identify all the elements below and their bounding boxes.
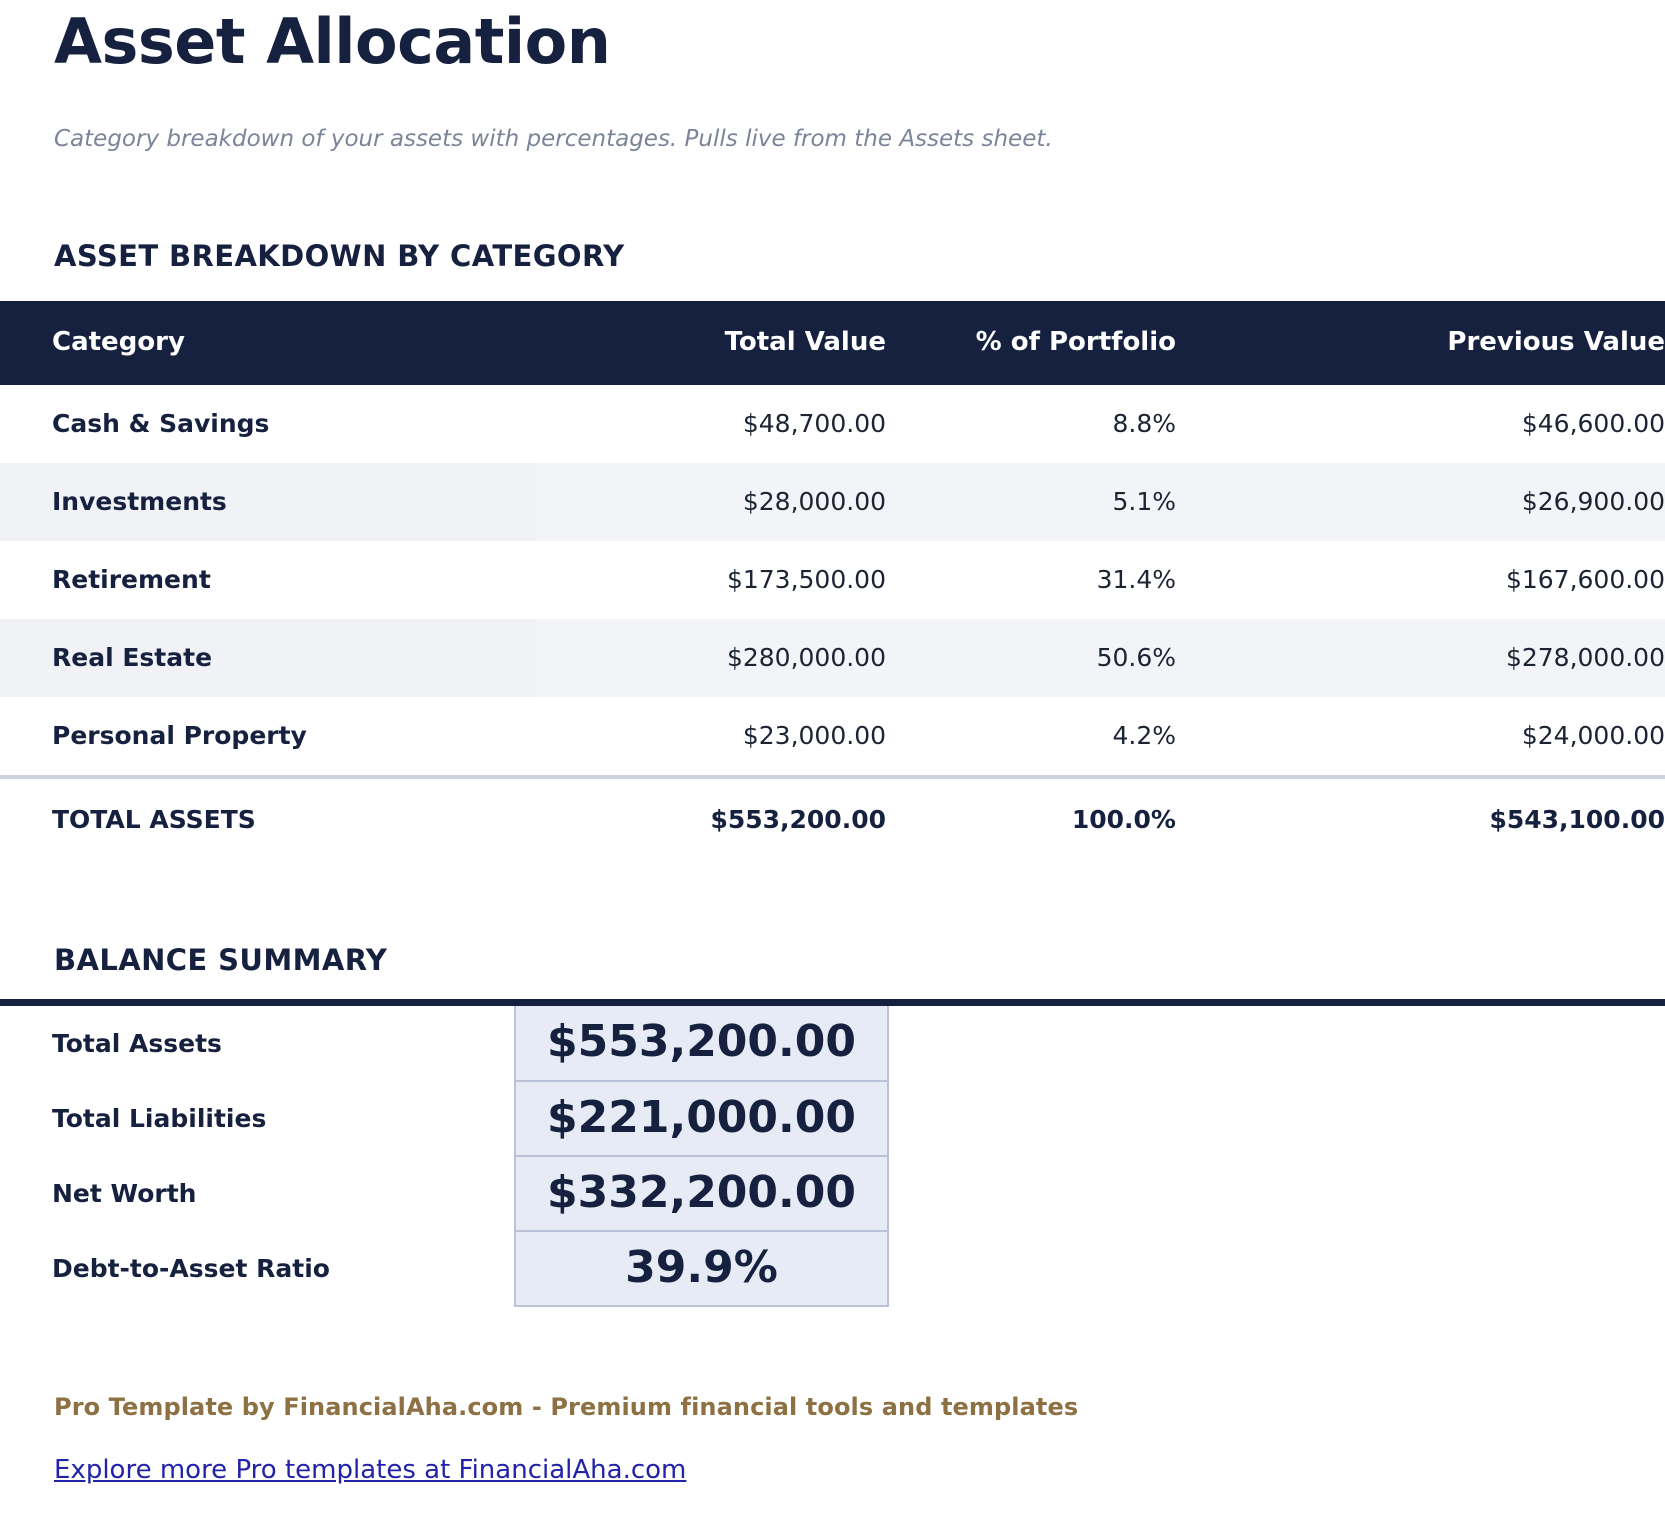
cell-pct-portfolio: 5.1%: [920, 463, 1210, 541]
summary-label-total-assets: Total Assets: [0, 1006, 515, 1081]
table-total-row: TOTAL ASSETS $553,200.00 100.0% $543,100…: [0, 777, 1665, 859]
summary-row: Total Liabilities $221,000.00: [0, 1081, 1665, 1156]
asset-breakdown-section-heading: ASSET BREAKDOWN BY CATEGORY: [54, 239, 1647, 273]
balance-summary-table: Total Assets $553,200.00 Total Liabiliti…: [0, 999, 1665, 1307]
column-header-total-value: Total Value: [535, 301, 920, 385]
summary-top-rule: [0, 999, 1665, 1006]
cell-previous-value: $278,000.00: [1210, 619, 1665, 697]
table-row: Real Estate $280,000.00 50.6% $278,000.0…: [0, 619, 1665, 697]
summary-rule-segment: [515, 999, 888, 1006]
summary-spacer: [888, 1081, 1665, 1156]
cell-total-pct-portfolio: 100.0%: [920, 777, 1210, 859]
footer-promo-text: Pro Template by FinancialAha.com - Premi…: [54, 1393, 1647, 1421]
summary-value-total-assets: $553,200.00: [515, 1006, 888, 1081]
summary-row: Net Worth $332,200.00: [0, 1156, 1665, 1231]
summary-rule-segment: [888, 999, 1665, 1006]
table-row: Personal Property $23,000.00 4.2% $24,00…: [0, 697, 1665, 777]
asset-breakdown-table: Category Total Value % of Portfolio Prev…: [0, 301, 1665, 859]
summary-value-net-worth: $332,200.00: [515, 1156, 888, 1231]
summary-row: Total Assets $553,200.00: [0, 1006, 1665, 1081]
cell-category: Personal Property: [0, 697, 535, 777]
cell-total-value: $280,000.00: [535, 619, 920, 697]
summary-spacer: [888, 1006, 1665, 1081]
cell-pct-portfolio: 31.4%: [920, 541, 1210, 619]
asset-breakdown-table-wrapper: Category Total Value % of Portfolio Prev…: [18, 301, 1647, 859]
summary-value-total-liabilities: $221,000.00: [515, 1081, 888, 1156]
cell-category: Real Estate: [0, 619, 535, 697]
cell-previous-value: $167,600.00: [1210, 541, 1665, 619]
cell-pct-portfolio: 8.8%: [920, 385, 1210, 463]
cell-total-value: $173,500.00: [535, 541, 920, 619]
balance-summary-section-heading: BALANCE SUMMARY: [54, 943, 1647, 977]
cell-total-value: $23,000.00: [535, 697, 920, 777]
balance-summary-table-wrapper: Total Assets $553,200.00 Total Liabiliti…: [18, 999, 1647, 1307]
column-header-category: Category: [0, 301, 535, 385]
footer-explore-link[interactable]: Explore more Pro templates at FinancialA…: [54, 1455, 686, 1485]
summary-value-debt-to-asset-ratio: 39.9%: [515, 1231, 888, 1306]
summary-spacer: [888, 1231, 1665, 1306]
table-header-row: Category Total Value % of Portfolio Prev…: [0, 301, 1665, 385]
cell-previous-value: $24,000.00: [1210, 697, 1665, 777]
cell-category: Retirement: [0, 541, 535, 619]
cell-total-label: TOTAL ASSETS: [0, 777, 535, 859]
footer: Pro Template by FinancialAha.com - Premi…: [54, 1393, 1647, 1485]
cell-total-value: $28,000.00: [535, 463, 920, 541]
summary-rule-segment: [0, 999, 515, 1006]
cell-previous-value: $46,600.00: [1210, 385, 1665, 463]
summary-row: Debt-to-Asset Ratio 39.9%: [0, 1231, 1665, 1306]
table-header: Category Total Value % of Portfolio Prev…: [0, 301, 1665, 385]
cell-category: Cash & Savings: [0, 385, 535, 463]
page-title: Asset Allocation: [54, 6, 1647, 77]
summary-label-total-liabilities: Total Liabilities: [0, 1081, 515, 1156]
summary-label-net-worth: Net Worth: [0, 1156, 515, 1231]
table-row: Retirement $173,500.00 31.4% $167,600.00: [0, 541, 1665, 619]
page-subtitle: Category breakdown of your assets with p…: [54, 125, 1647, 155]
table-body: Cash & Savings $48,700.00 8.8% $46,600.0…: [0, 385, 1665, 859]
table-row: Investments $28,000.00 5.1% $26,900.00: [0, 463, 1665, 541]
cell-previous-value: $26,900.00: [1210, 463, 1665, 541]
cell-pct-portfolio: 4.2%: [920, 697, 1210, 777]
page-root: Asset Allocation Category breakdown of y…: [0, 6, 1665, 1485]
column-header-previous-value: Previous Value: [1210, 301, 1665, 385]
summary-spacer: [888, 1156, 1665, 1231]
cell-total-value: $48,700.00: [535, 385, 920, 463]
column-header-pct-portfolio: % of Portfolio: [920, 301, 1210, 385]
table-row: Cash & Savings $48,700.00 8.8% $46,600.0…: [0, 385, 1665, 463]
cell-total-total-value: $553,200.00: [535, 777, 920, 859]
summary-label-debt-to-asset-ratio: Debt-to-Asset Ratio: [0, 1231, 515, 1306]
cell-pct-portfolio: 50.6%: [920, 619, 1210, 697]
cell-category: Investments: [0, 463, 535, 541]
cell-total-previous-value: $543,100.00: [1210, 777, 1665, 859]
